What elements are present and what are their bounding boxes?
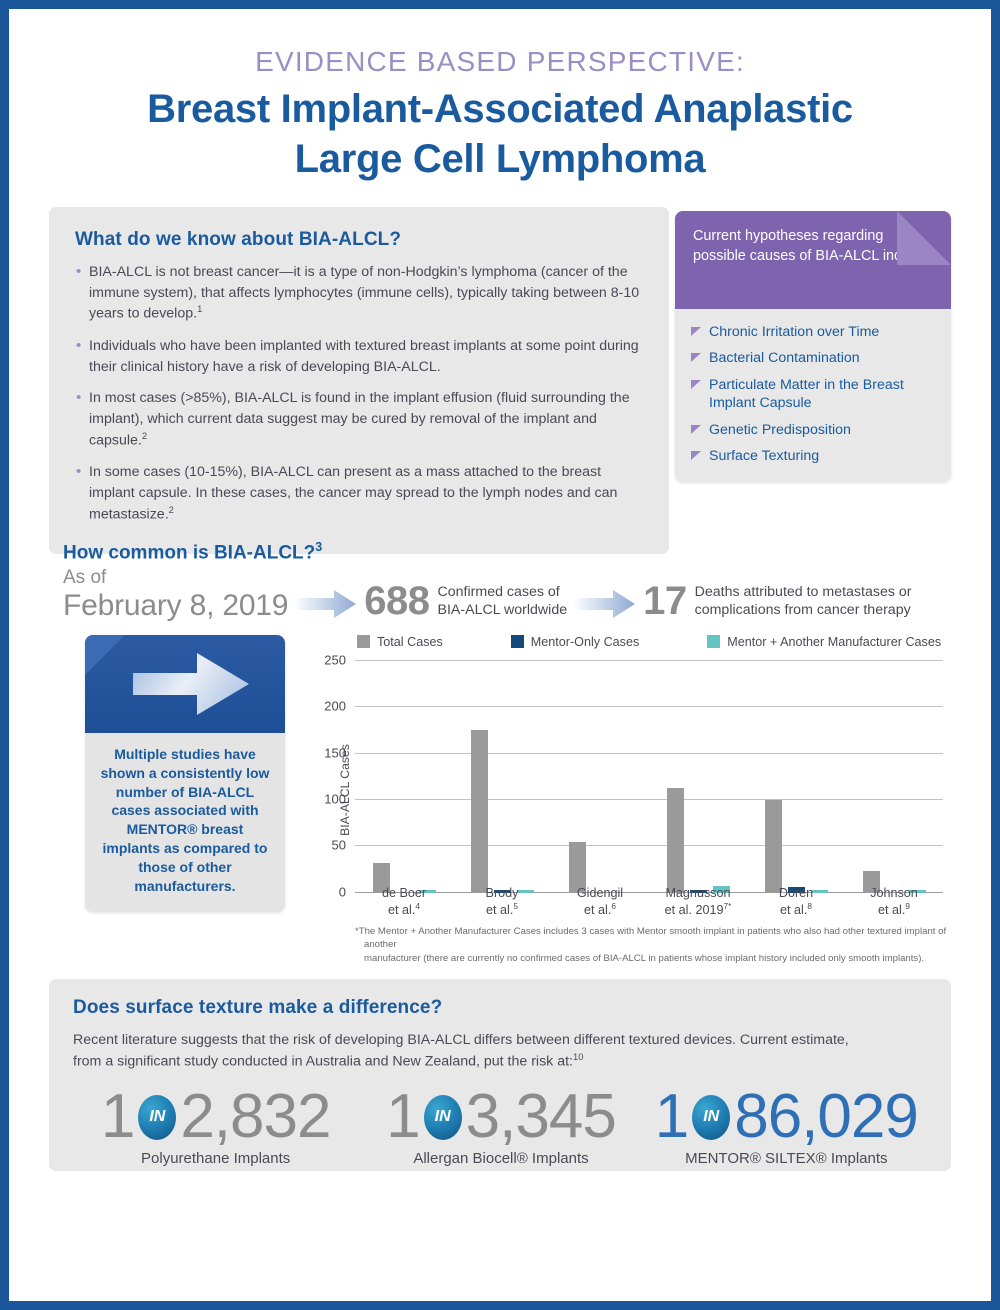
- legend-swatch-icon: [357, 635, 370, 648]
- caption-line-1: Deaths attributed to metastases or: [695, 584, 912, 601]
- hypothesis-label: Bacterial Contamination: [709, 349, 860, 367]
- list-item: In most cases (>85%), BIA-ALCL is found …: [75, 388, 645, 451]
- list-item: Genetic Predisposition: [691, 421, 937, 439]
- arrow-right-icon: [573, 589, 635, 619]
- surface-texture-intro: Recent literature suggests that the risk…: [73, 1030, 929, 1072]
- stat-value: 2,832: [180, 1086, 330, 1148]
- bar-group: [649, 661, 747, 893]
- page-frame: EVIDENCE BASED PERSPECTIVE: Breast Impla…: [0, 0, 1000, 1310]
- hypotheses-list: Chronic Irritation over Time Bacterial C…: [675, 309, 951, 482]
- list-item: BIA-ALCL is not breast cancer—it is a ty…: [75, 262, 645, 325]
- hypothesis-label: Genetic Predisposition: [709, 421, 851, 439]
- as-of-label: As of: [63, 568, 288, 589]
- what-we-know-panel: What do we know about BIA-ALCL? BIA-ALCL…: [49, 207, 669, 554]
- hypotheses-card: Current hypotheses regarding possible ca…: [675, 211, 951, 482]
- bullet-ref: 1: [197, 304, 202, 314]
- arrow-right-icon: [294, 589, 356, 619]
- list-item: Surface Texturing: [691, 447, 937, 465]
- prevalence-section: How common is BIA-ALCL?3 As of February …: [49, 540, 951, 965]
- intro-line-2: from a significant study conducted in Au…: [73, 1053, 573, 1069]
- legend-label: Mentor-Only Cases: [531, 635, 639, 649]
- bar-group: [453, 661, 551, 893]
- list-item: Bacterial Contamination: [691, 349, 937, 367]
- triangle-bullet-icon: [691, 425, 701, 434]
- risk-stats-row: 1 IN 2,832 Polyurethane Implants 1 IN 3,…: [73, 1086, 929, 1167]
- risk-stat-allergan: 1 IN 3,345 Allergan Biocell® Implants: [358, 1086, 643, 1167]
- surface-texture-section: Does surface texture make a difference? …: [49, 979, 951, 1171]
- page-fold-icon: [897, 211, 951, 265]
- legend-swatch-icon: [511, 635, 524, 648]
- legend-item-mentor-plus: Mentor + Another Manufacturer Cases: [707, 635, 941, 649]
- bar: [471, 730, 488, 893]
- hypothesis-label: Chronic Irritation over Time: [709, 323, 879, 341]
- stat-one: 1: [655, 1086, 688, 1148]
- footnote-line-1: *The Mentor + Another Manufacturer Cases…: [355, 925, 951, 952]
- chart-plot-area: BIA-ALCL Cases 250200150100500 de Boeret…: [301, 661, 951, 919]
- list-item: Chronic Irritation over Time: [691, 323, 937, 341]
- bar-group-container: [355, 661, 943, 893]
- stat-line: 1 IN 2,832: [73, 1086, 358, 1148]
- x-axis-tick: Magnussonet al. 20197*: [649, 886, 747, 919]
- x-axis-tick: Dorenet al.8: [747, 886, 845, 919]
- x-axis-tick: de Boeret al.4: [355, 886, 453, 919]
- caption-line-2: complications from cancer therapy: [695, 602, 912, 619]
- page-title-line1: Breast Implant-Associated Anaplastic: [18, 84, 982, 134]
- triangle-bullet-icon: [691, 451, 701, 460]
- chart-section: Multiple studies have shown a consistent…: [49, 635, 951, 965]
- hypotheses-header: Current hypotheses regarding possible ca…: [675, 211, 951, 309]
- as-of-date: February 8, 2019: [63, 589, 288, 623]
- mentor-callout-card: Multiple studies have shown a consistent…: [85, 635, 285, 912]
- eyebrow-text: EVIDENCE BASED PERSPECTIVE:: [18, 46, 982, 78]
- callout-text: Multiple studies have shown a consistent…: [85, 733, 285, 912]
- stat-value: 86,029: [734, 1086, 918, 1148]
- list-item: In some cases (10-15%), BIA-ALCL can pre…: [75, 462, 645, 525]
- knowledge-section: What do we know about BIA-ALCL? BIA-ALCL…: [49, 207, 951, 522]
- stat-line: 1 IN 86,029: [644, 1086, 929, 1148]
- hypotheses-intro: Current hypotheses regarding possible ca…: [693, 228, 932, 264]
- y-axis-tick: 100: [324, 792, 346, 807]
- hypothesis-label: Particulate Matter in the Breast Implant…: [709, 376, 937, 413]
- bullet-text: BIA-ALCL is not breast cancer—it is a ty…: [89, 264, 639, 322]
- triangle-bullet-icon: [691, 327, 701, 336]
- in-badge-icon: IN: [692, 1095, 730, 1140]
- as-of-block: As of February 8, 2019: [63, 568, 288, 622]
- y-axis-tick: 150: [324, 745, 346, 760]
- chart-legend: Total Cases Mentor-Only Cases Mentor + A…: [301, 635, 951, 649]
- page-header: EVIDENCE BASED PERSPECTIVE: Breast Impla…: [18, 18, 982, 184]
- legend-item-total-cases: Total Cases: [357, 635, 443, 649]
- deaths-number: 17: [643, 581, 687, 621]
- callout-header: [85, 635, 285, 733]
- x-axis-tick: Gidengilet al.6: [551, 886, 649, 919]
- in-badge-icon: IN: [424, 1095, 462, 1140]
- triangle-bullet-icon: [691, 353, 701, 362]
- list-item: Individuals who have been implanted with…: [75, 336, 645, 377]
- stat-caption: Polyurethane Implants: [73, 1150, 358, 1167]
- risk-stat-polyurethane: 1 IN 2,832 Polyurethane Implants: [73, 1086, 358, 1167]
- stats-row: As of February 8, 2019 688 Confirmed cas…: [49, 568, 951, 622]
- how-common-heading-ref: 3: [315, 540, 322, 554]
- surface-texture-heading: Does surface texture make a difference?: [73, 997, 929, 1019]
- stat-value: 3,345: [466, 1086, 616, 1148]
- bullet-text: In most cases (>85%), BIA-ALCL is found …: [89, 390, 630, 448]
- stat-one: 1: [386, 1086, 419, 1148]
- chart-column: Total Cases Mentor-Only Cases Mentor + A…: [285, 635, 951, 965]
- bar-group: [355, 661, 453, 893]
- bar: [765, 800, 782, 893]
- caption-line-2: BIA-ALCL worldwide: [438, 602, 568, 619]
- page-title: Breast Implant-Associated Anaplastic Lar…: [18, 84, 982, 184]
- caption-line-1: Confirmed cases of: [438, 584, 568, 601]
- bar-group: [845, 661, 943, 893]
- y-axis-tick: 0: [339, 884, 346, 899]
- legend-swatch-icon: [707, 635, 720, 648]
- legend-item-mentor-only: Mentor-Only Cases: [511, 635, 639, 649]
- confirmed-cases-number: 688: [364, 581, 429, 621]
- x-axis-tick: Johnsonet al.9: [845, 886, 943, 919]
- stat-one: 1: [101, 1086, 134, 1148]
- in-badge-icon: IN: [138, 1095, 176, 1140]
- y-axis-tick: 50: [332, 838, 346, 853]
- stat-caption: Allergan Biocell® Implants: [358, 1150, 643, 1167]
- triangle-bullet-icon: [691, 380, 701, 389]
- what-we-know-list: BIA-ALCL is not breast cancer—it is a ty…: [75, 262, 645, 525]
- x-axis-labels: de Boeret al.4Brodyet al.5Gidengilet al.…: [355, 886, 943, 919]
- page-title-line2: Large Cell Lymphoma: [18, 134, 982, 184]
- arrow-right-icon: [131, 651, 251, 717]
- chart-footnote: *The Mentor + Another Manufacturer Cases…: [355, 925, 951, 965]
- deaths-caption: Deaths attributed to metastases or compl…: [695, 584, 912, 619]
- stat-caption: MENTOR® SILTEX® Implants: [644, 1150, 929, 1167]
- y-axis-tick: 250: [324, 652, 346, 667]
- stat-line: 1 IN 3,345: [358, 1086, 643, 1148]
- intro-line-1: Recent literature suggests that the risk…: [73, 1032, 849, 1048]
- how-common-heading-text: How common is BIA-ALCL?: [63, 542, 315, 563]
- hypothesis-label: Surface Texturing: [709, 447, 819, 465]
- what-we-know-heading: What do we know about BIA-ALCL?: [75, 229, 645, 251]
- intro-ref: 10: [573, 1052, 583, 1062]
- page-fold-icon: [85, 635, 125, 675]
- bullet-ref: 2: [169, 505, 174, 515]
- legend-label: Total Cases: [377, 635, 443, 649]
- confirmed-cases-caption: Confirmed cases of BIA-ALCL worldwide: [438, 584, 568, 619]
- plot: 250200150100500: [355, 661, 943, 893]
- how-common-heading: How common is BIA-ALCL?3: [49, 540, 951, 564]
- risk-stat-mentor: 1 IN 86,029 MENTOR® SILTEX® Implants: [644, 1086, 929, 1167]
- bar-group: [551, 661, 649, 893]
- list-item: Particulate Matter in the Breast Implant…: [691, 376, 937, 413]
- bullet-ref: 2: [142, 431, 147, 441]
- bar: [667, 788, 684, 893]
- footnote-line-2: manufacturer (there are currently no con…: [355, 952, 951, 965]
- bullet-text: Individuals who have been implanted with…: [89, 338, 639, 375]
- x-axis-tick: Brodyet al.5: [453, 886, 551, 919]
- bar-group: [747, 661, 845, 893]
- legend-label: Mentor + Another Manufacturer Cases: [727, 635, 941, 649]
- y-axis-tick: 200: [324, 699, 346, 714]
